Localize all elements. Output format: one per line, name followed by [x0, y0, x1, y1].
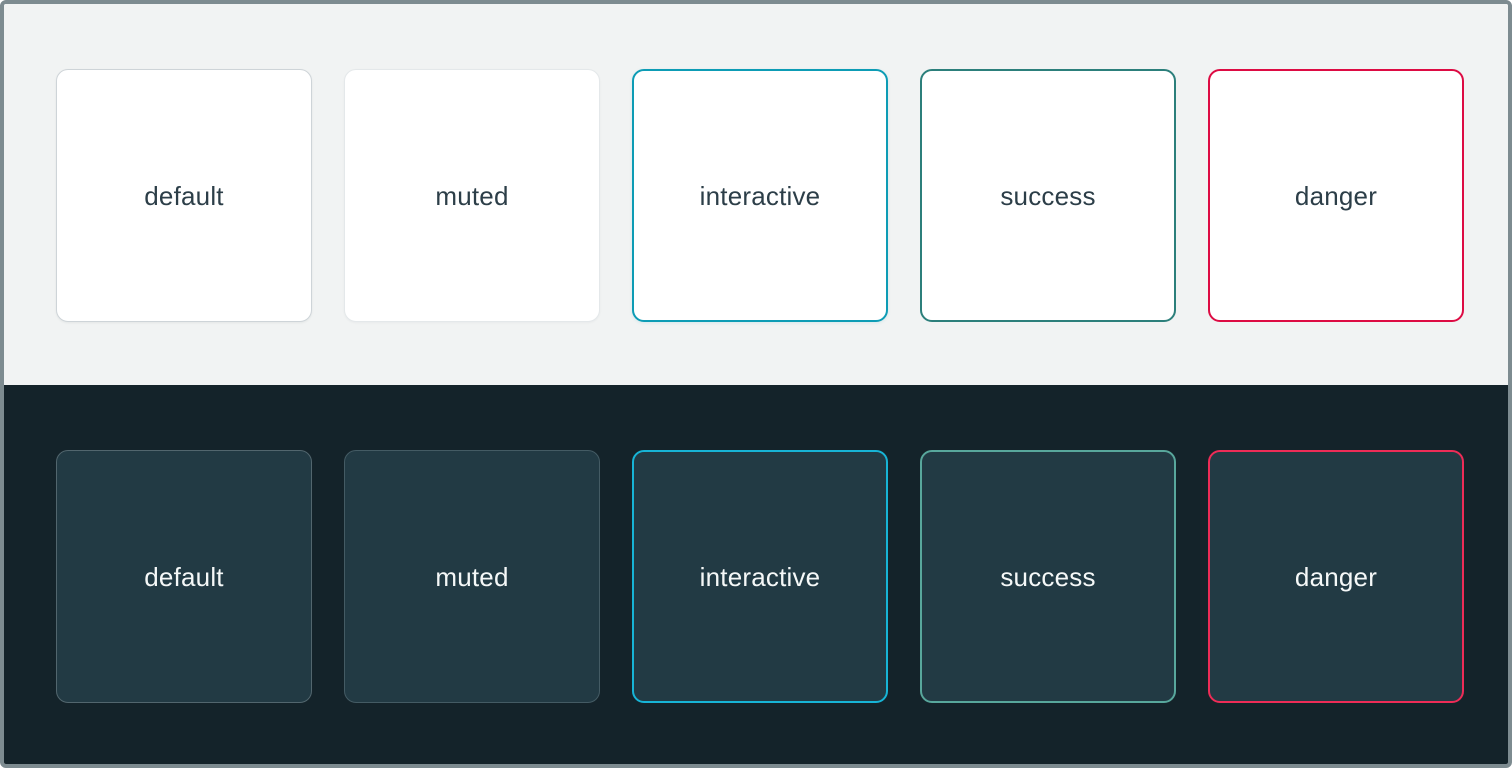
- card-label-light-danger: danger: [1295, 183, 1377, 209]
- card-dark-interactive[interactable]: interactive: [632, 450, 888, 703]
- card-slot-light-default: default: [56, 69, 344, 322]
- card-label-light-muted: muted: [435, 183, 508, 209]
- dark-theme-section: default muted interactive success: [4, 385, 1508, 764]
- card-dark-danger[interactable]: danger: [1208, 450, 1464, 703]
- card-light-interactive[interactable]: interactive: [632, 69, 888, 322]
- card-dark-muted[interactable]: muted: [344, 450, 600, 703]
- card-label-light-success: success: [1000, 183, 1095, 209]
- card-slot-dark-muted: muted: [344, 450, 632, 703]
- card-dark-success[interactable]: success: [920, 450, 1176, 703]
- card-slot-dark-interactive: interactive: [632, 450, 920, 703]
- card-label-dark-danger: danger: [1295, 564, 1377, 590]
- card-slot-light-danger: danger: [1208, 69, 1496, 322]
- card-label-dark-success: success: [1000, 564, 1095, 590]
- card-label-light-interactive: interactive: [700, 183, 821, 209]
- card-light-default[interactable]: default: [56, 69, 312, 322]
- card-light-success[interactable]: success: [920, 69, 1176, 322]
- card-label-dark-default: default: [144, 564, 223, 590]
- card-label-dark-interactive: interactive: [700, 564, 821, 590]
- card-light-danger[interactable]: danger: [1208, 69, 1464, 322]
- card-slot-light-interactive: interactive: [632, 69, 920, 322]
- card-slot-dark-success: success: [920, 450, 1208, 703]
- card-dark-default[interactable]: default: [56, 450, 312, 703]
- light-theme-section: default muted interactive success: [4, 4, 1508, 385]
- card-light-muted[interactable]: muted: [344, 69, 600, 322]
- card-slot-dark-danger: danger: [1208, 450, 1496, 703]
- card-label-dark-muted: muted: [435, 564, 508, 590]
- card-slot-light-muted: muted: [344, 69, 632, 322]
- dark-card-row: default muted interactive success: [56, 450, 1496, 703]
- card-slot-dark-default: default: [56, 450, 344, 703]
- screen-frame: default muted interactive success: [0, 0, 1512, 768]
- card-label-light-default: default: [144, 183, 223, 209]
- light-card-row: default muted interactive success: [56, 69, 1496, 322]
- card-slot-light-success: success: [920, 69, 1208, 322]
